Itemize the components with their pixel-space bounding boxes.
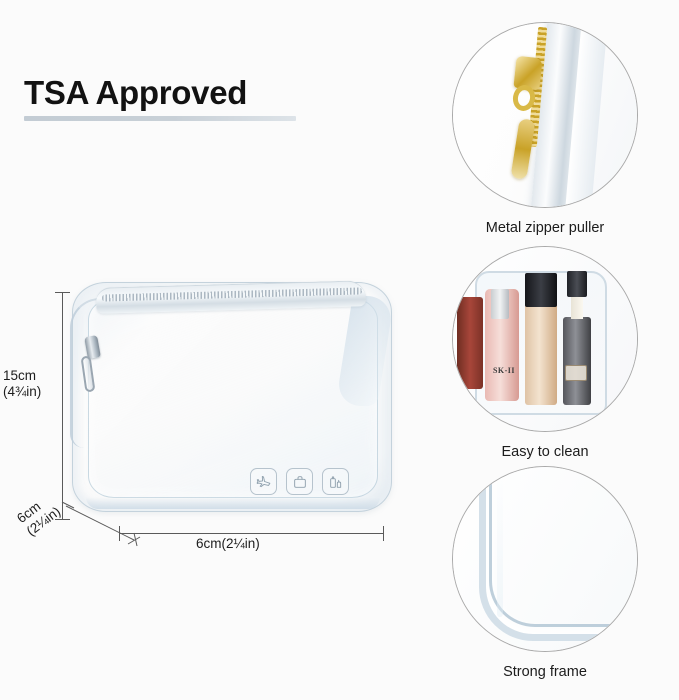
dimension-label-width: 6cm(2¼in) <box>196 536 260 551</box>
callout-metal-zipper-puller: Metal zipper puller <box>452 22 638 236</box>
height-value-cm: 15cm <box>3 368 61 384</box>
callout-image-frame <box>452 466 638 652</box>
cosmetic-bottle-dark <box>457 297 483 389</box>
callout-easy-to-clean: SK-II Easy to clean <box>452 246 638 460</box>
dimension-line-depth <box>60 500 180 560</box>
callout-caption-frame: Strong frame <box>452 664 638 680</box>
airplane-icon <box>250 468 277 495</box>
pouch-feature-icons <box>250 468 349 495</box>
height-value-in: (4¾in) <box>3 384 61 400</box>
callout-caption-clean: Easy to clean <box>452 444 638 460</box>
cosmetic-bottle-foundation-cap <box>525 273 557 307</box>
cosmetic-brand-label-skii: SK-II <box>489 366 519 375</box>
page-title: TSA Approved <box>24 76 296 109</box>
callout-image-cosmetics: SK-II <box>452 246 638 432</box>
title-underline <box>24 116 296 121</box>
cosmetic-bottle-pink-cap <box>491 289 509 319</box>
toiletries-icon <box>322 468 349 495</box>
frame-highlight <box>497 466 503 617</box>
cosmetic-bottle-foundation <box>525 301 557 405</box>
luggage-icon <box>286 468 313 495</box>
dimension-cap-right <box>383 526 384 541</box>
infographic-page: TSA Approved <box>0 0 679 700</box>
dimension-cap-top <box>55 292 70 293</box>
dimension-label-height: 15cm (4¾in) <box>3 368 61 401</box>
callout-strong-frame: Strong frame <box>452 466 638 680</box>
callout-image-zipper <box>452 22 638 208</box>
title-block: TSA Approved <box>24 76 296 121</box>
cosmetic-bottle-perfume-cap <box>567 271 587 297</box>
callout-caption-zipper: Metal zipper puller <box>452 220 638 236</box>
pouch-corner-frame-inner <box>489 466 629 627</box>
cosmetic-brand-label-dior <box>565 365 587 381</box>
cosmetic-bottle-perfume-neck <box>571 295 583 319</box>
clear-toiletry-pouch <box>72 282 392 512</box>
cosmetic-bottle-perfume <box>563 317 591 405</box>
